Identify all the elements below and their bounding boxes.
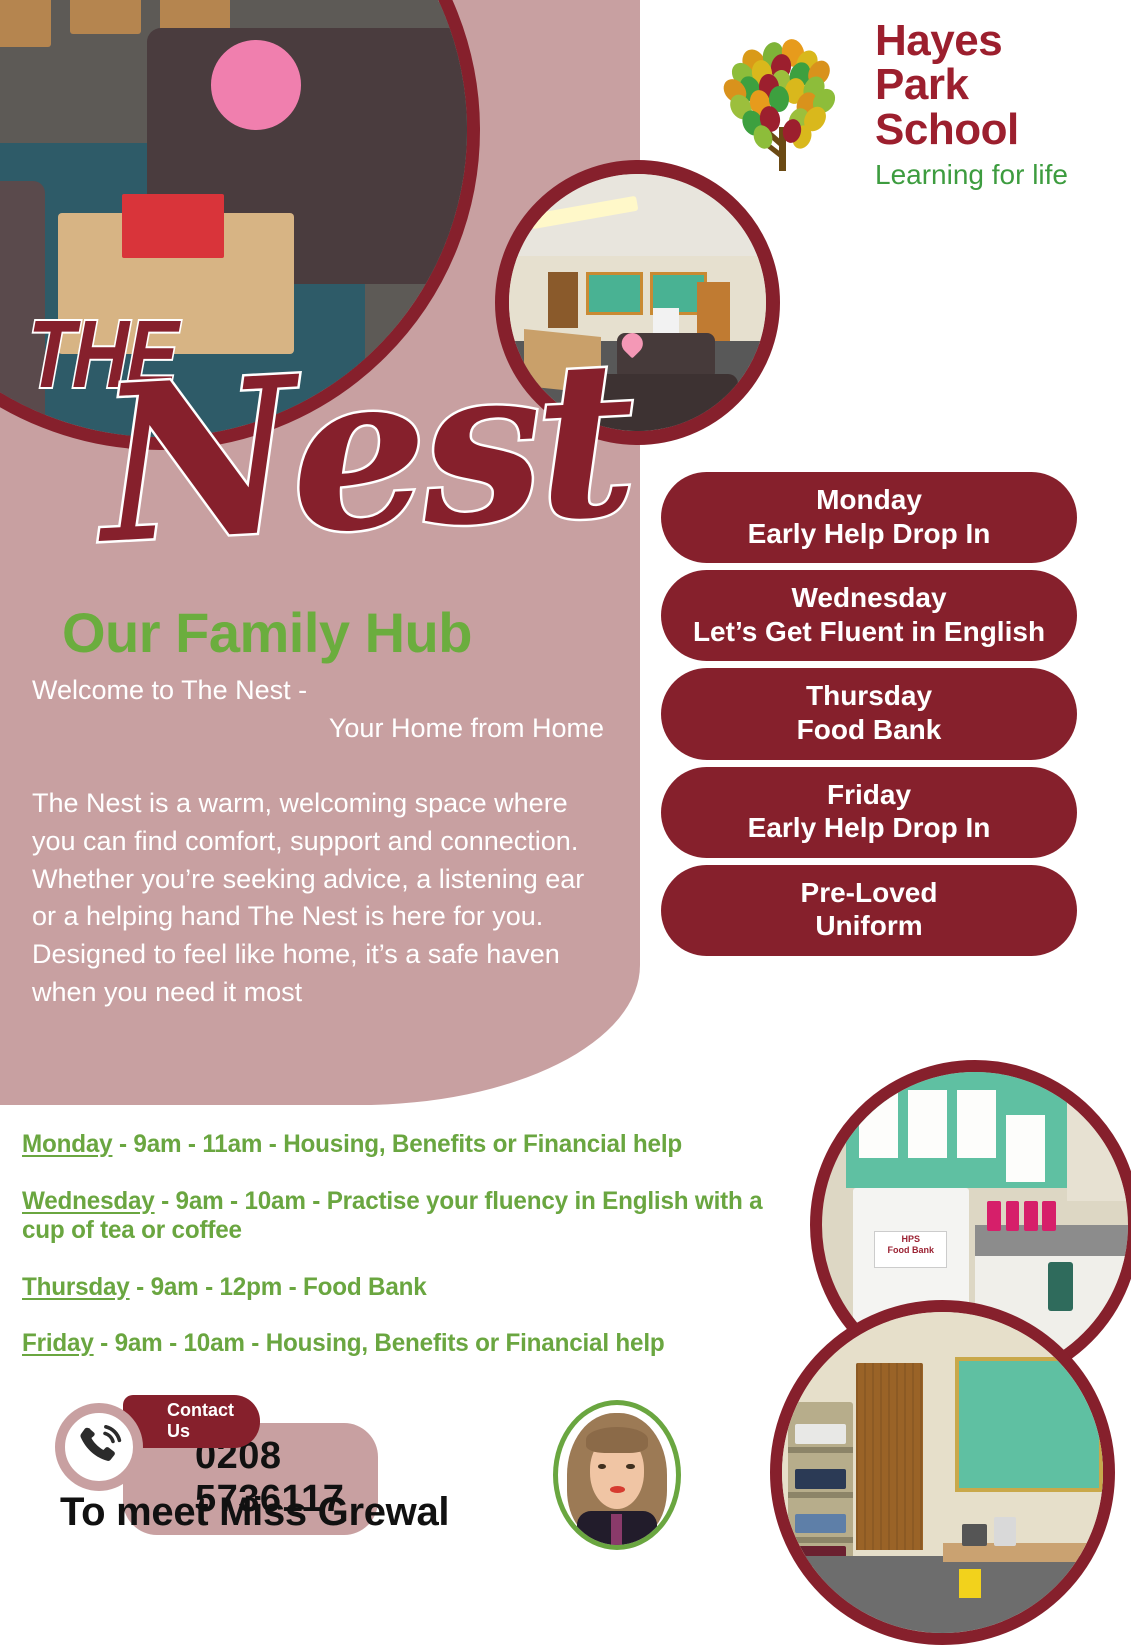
service-pill[interactable]: Thursday Food Bank: [661, 668, 1077, 759]
avatar: [553, 1400, 681, 1550]
meet-text: To meet Miss Grewal: [60, 1490, 449, 1535]
service-pill[interactable]: Friday Early Help Drop In: [661, 767, 1077, 858]
schedule-detail: - 9am - 10am - Housing, Benefits or Fina…: [94, 1329, 665, 1357]
schedule-day: Wednesday: [22, 1187, 155, 1215]
logo-school-line1: Hayes Park: [875, 19, 1087, 109]
service-pill-service: Let’s Get Fluent in English: [679, 615, 1059, 649]
service-pill-day: Thursday: [679, 679, 1059, 713]
schedule-detail: - 9am - 11am - Housing, Benefits or Fina…: [112, 1130, 682, 1158]
schedule-row: Friday - 9am - 10am - Housing, Benefits …: [22, 1329, 808, 1359]
schedule-row: Thursday - 9am - 12pm - Food Bank: [22, 1273, 808, 1303]
logo-school-line2: School: [875, 108, 1087, 153]
service-pill[interactable]: Pre-Loved Uniform: [661, 865, 1077, 956]
services-pill-list: Monday Early Help Drop In Wednesday Let’…: [661, 472, 1077, 956]
welcome-line-1: Welcome to The Nest -: [32, 675, 307, 705]
body-copy: The Nest is a warm, welcoming space wher…: [32, 785, 602, 1012]
service-pill[interactable]: Wednesday Let’s Get Fluent in English: [661, 570, 1077, 661]
welcome-text: Welcome to The Nest - Your Home from Hom…: [32, 672, 612, 748]
service-pill-service: Food Bank: [679, 713, 1059, 747]
food-bank-sign-line1: HPS: [901, 1234, 920, 1244]
service-pill-service: Uniform: [679, 909, 1059, 943]
schedule-detail: - 9am - 12pm - Food Bank: [130, 1273, 427, 1301]
service-pill-day: Pre-Loved: [679, 876, 1059, 910]
service-pill[interactable]: Monday Early Help Drop In: [661, 472, 1077, 563]
title-nest: Nest: [94, 311, 636, 591]
school-logo: Hayes Park School Learning for life: [707, 26, 1087, 186]
service-pill-day: Monday: [679, 483, 1059, 517]
schedule-row: Monday - 9am - 11am - Housing, Benefits …: [22, 1130, 808, 1160]
logo-tagline: Learning for life: [875, 157, 1087, 193]
service-pill-service: Early Help Drop In: [679, 811, 1059, 845]
service-pill-day: Friday: [679, 778, 1059, 812]
schedule-day: Thursday: [22, 1273, 130, 1301]
schedule-day: Monday: [22, 1130, 112, 1158]
contact-us-label: Contact Us: [123, 1395, 260, 1448]
tree-icon: [707, 31, 857, 181]
food-bank-sign-line2: Food Bank: [887, 1245, 934, 1255]
weekly-schedule: Monday - 9am - 11am - Housing, Benefits …: [22, 1130, 832, 1386]
schedule-row: Wednesday - 9am - 10am - Practise your f…: [22, 1187, 808, 1246]
service-pill-day: Wednesday: [679, 581, 1059, 615]
phone-icon: [55, 1403, 143, 1491]
food-bank-sign: HPS Food Bank: [874, 1234, 947, 1257]
welcome-line-2: Your Home from Home: [32, 710, 612, 748]
schedule-day: Friday: [22, 1329, 94, 1357]
service-pill-service: Early Help Drop In: [679, 517, 1059, 551]
page-subtitle: Our Family Hub: [62, 600, 472, 665]
